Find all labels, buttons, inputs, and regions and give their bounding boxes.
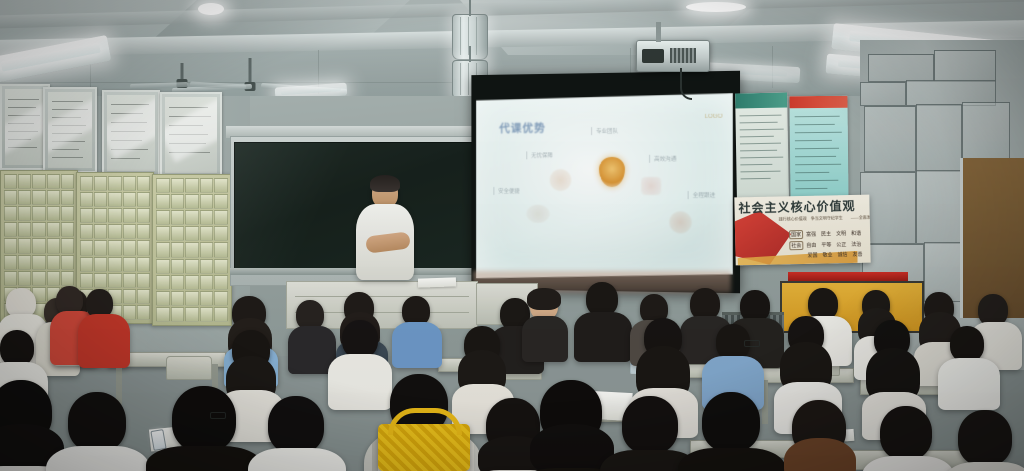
core-values-title: 社会主义核心价值观 — [738, 197, 855, 216]
slide-label: 专业团队 — [591, 127, 618, 135]
exam-discipline-poster — [789, 96, 848, 203]
core-values-row: 国家富强 民主 文明 和谐 — [789, 229, 861, 240]
core-values-tag: 社会 — [789, 241, 803, 250]
chalkboard-sheen — [234, 142, 476, 269]
eyeglasses — [210, 412, 226, 419]
slide-label: 无忧保障 — [526, 151, 552, 159]
slide-label: 安全便捷 — [493, 187, 519, 195]
core-values-words: 自由 平等 公正 法治 — [806, 242, 861, 249]
ceiling-seam — [0, 82, 470, 83]
projection-screen: 代课优势 LOGO 无忧保障 专业团队 高效沟通 安全便捷 全程跟进 — [476, 93, 733, 282]
framed-notice-board — [43, 87, 97, 173]
chalk-tray — [230, 268, 480, 275]
slide-logo: LOGO — [705, 114, 723, 120]
bag-handle — [388, 408, 462, 435]
lecture-hall-photo: 代课优势 LOGO 无忧保障 专业团队 高效沟通 安全便捷 全程跟进 — [0, 0, 1024, 471]
shield-icon — [550, 169, 572, 191]
clock-icon — [669, 211, 691, 233]
projector-mount — [656, 22, 661, 42]
eyeglasses — [744, 340, 760, 347]
chat-icon — [641, 177, 661, 195]
slide-title: 代课优势 — [499, 120, 546, 136]
projector-cable — [680, 68, 692, 100]
core-values-words: 爱国 敬业 诚信 友善 — [807, 252, 862, 259]
cloud-icon — [526, 205, 549, 223]
slide-label: 高效沟通 — [649, 155, 676, 163]
ceiling-projector — [636, 40, 710, 72]
core-values-poster: 社会主义核心价值观 践行核心价值观 争当文明守纪学生 ——全面发展 成就人生最美… — [734, 195, 870, 266]
core-values-row: 社会自由 平等 公正 法治 — [789, 240, 861, 251]
core-values-tag: 国家 — [789, 230, 803, 239]
phone-pocket-board — [152, 174, 232, 326]
red-wall-strip — [788, 272, 908, 281]
paper-stack — [418, 277, 456, 287]
core-values-row: 爱国 敬业 诚信 友善 — [807, 251, 862, 259]
slide-label: 全程跟进 — [688, 191, 716, 199]
core-values-words: 富强 民主 文明 和谐 — [806, 231, 861, 238]
desk-leg — [116, 364, 122, 404]
yellow-handbag — [378, 424, 470, 471]
chair-back — [166, 356, 212, 380]
ceiling-light-glow — [198, 3, 224, 15]
framed-notice-board — [102, 90, 160, 176]
projector-lens — [642, 49, 664, 63]
projector-vent — [670, 48, 696, 63]
classroom-rules-poster — [735, 93, 789, 198]
ceiling-light-glow — [686, 2, 746, 12]
framed-notice-board — [160, 92, 222, 178]
